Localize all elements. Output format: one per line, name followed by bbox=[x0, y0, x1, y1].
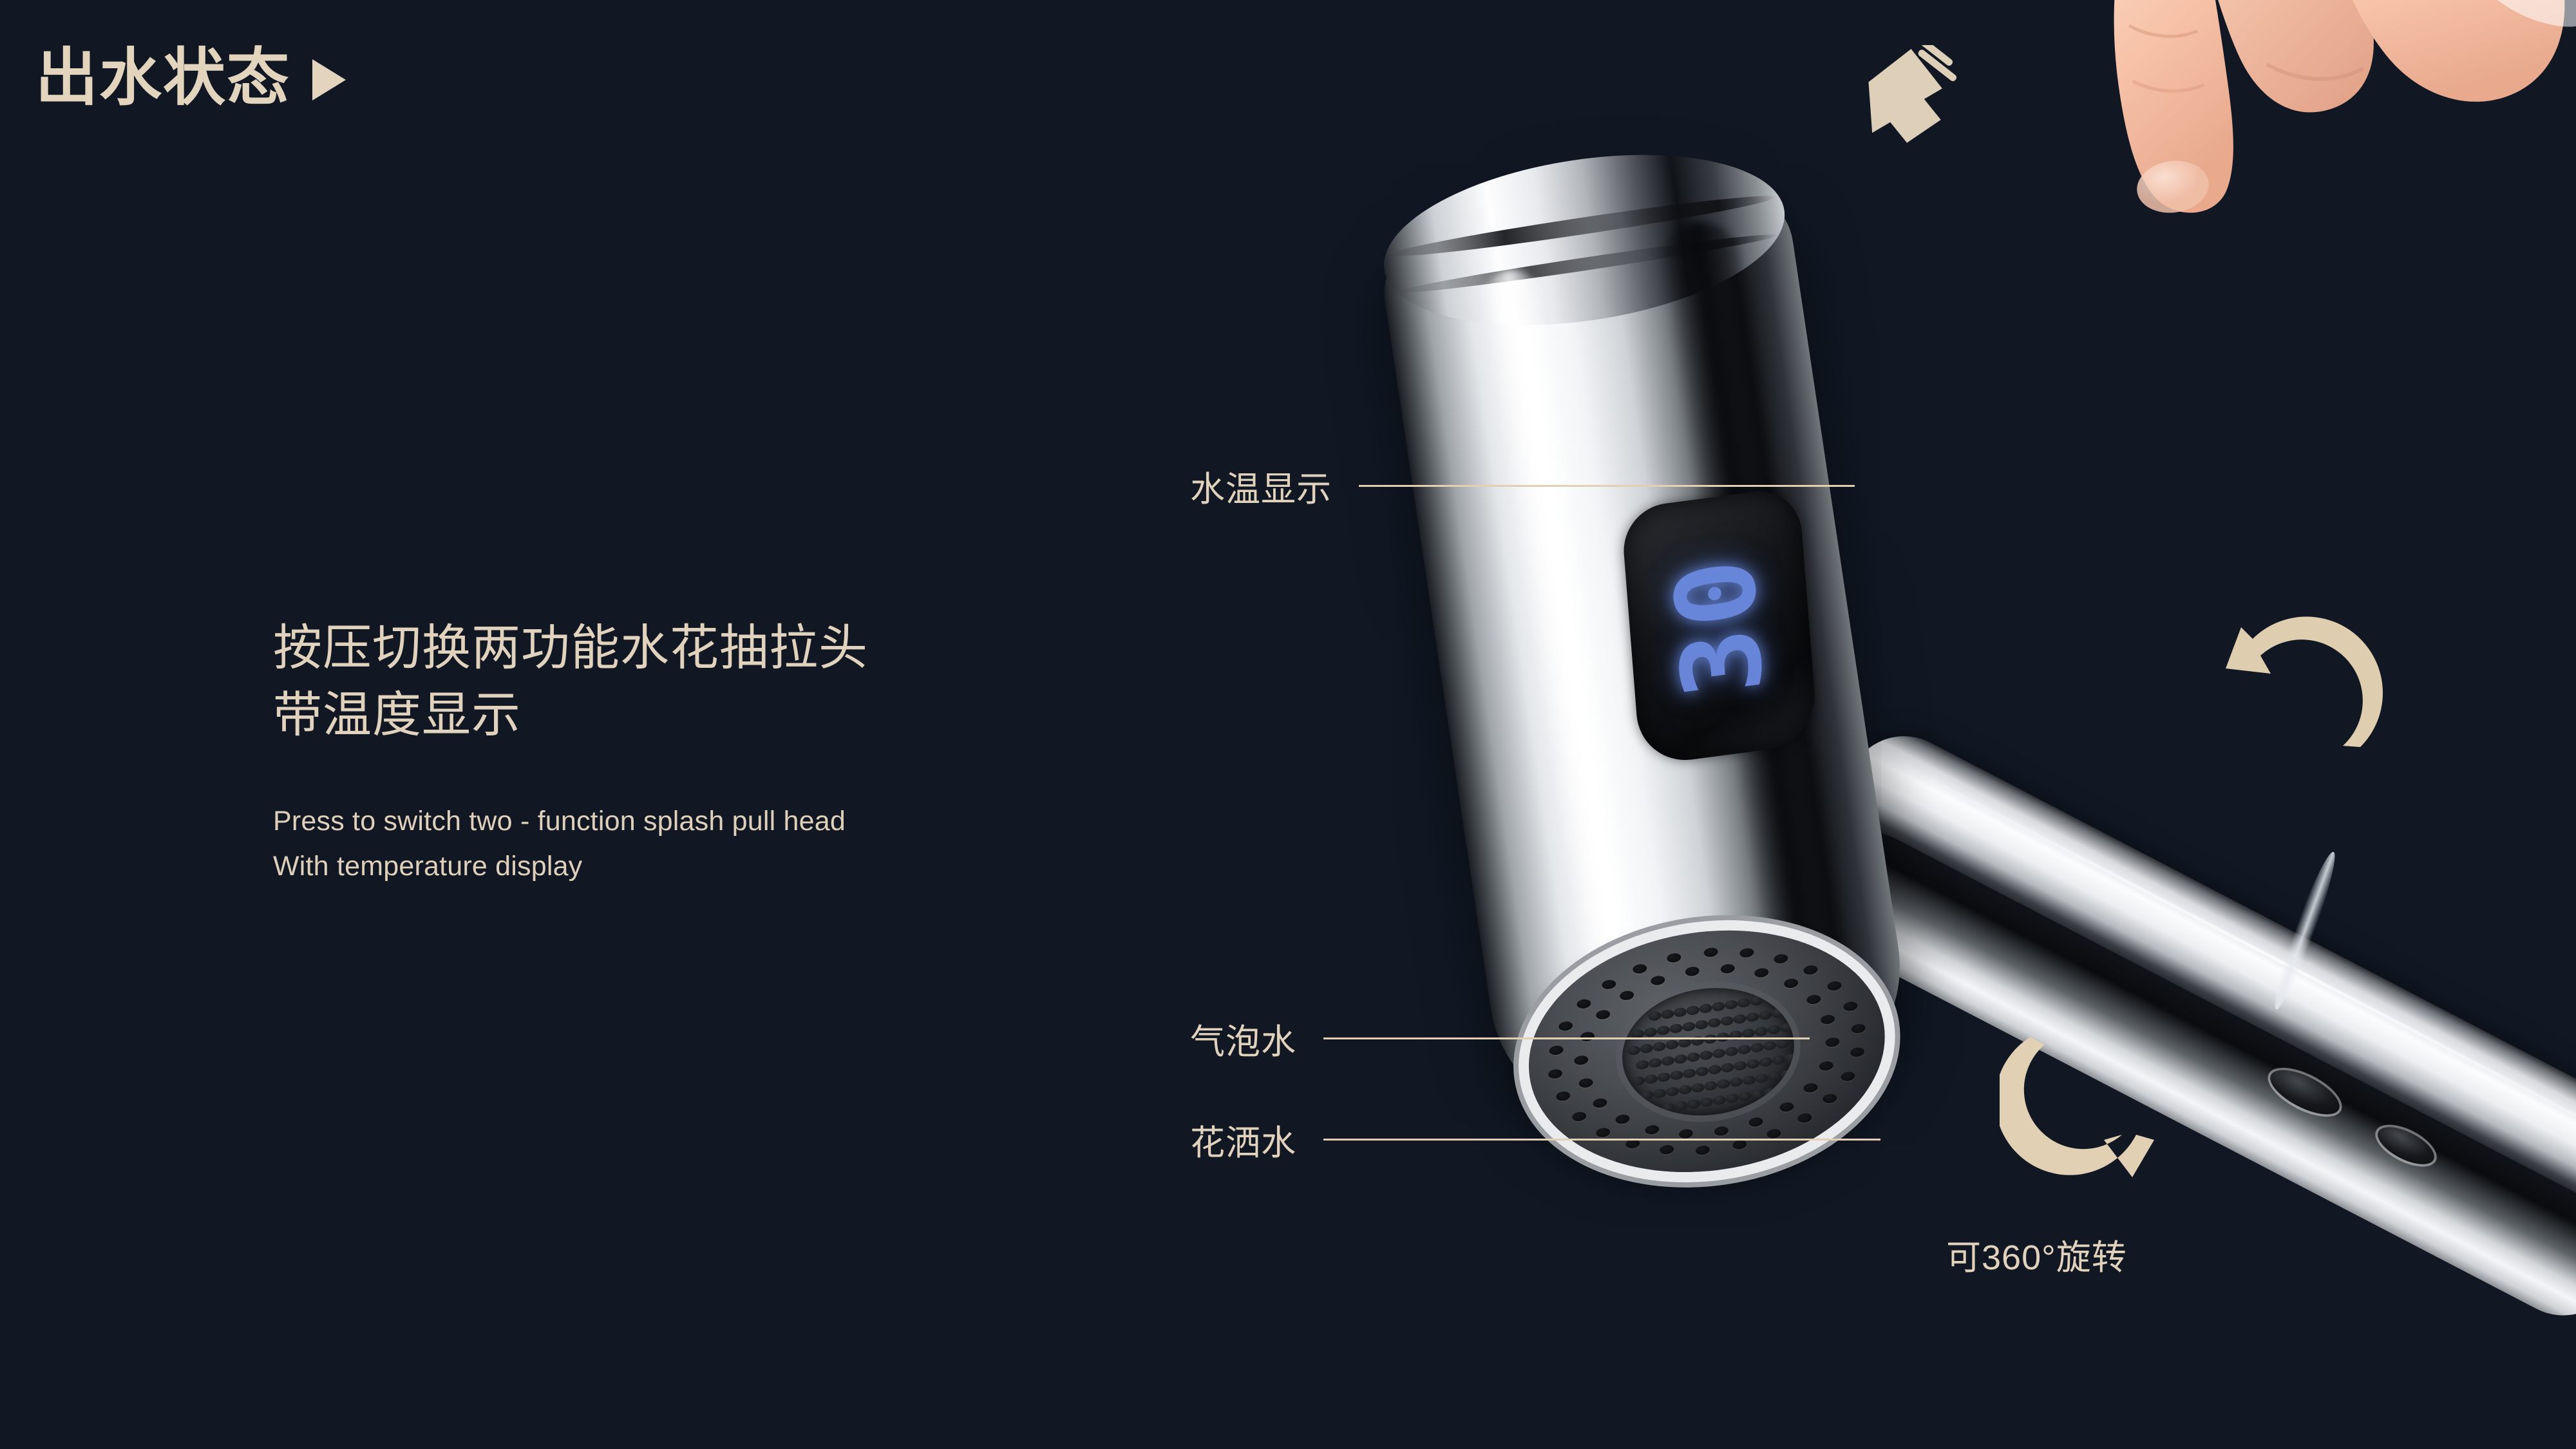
leader-line bbox=[1323, 1139, 1880, 1141]
headline-cn-line-2: 带温度显示 bbox=[273, 682, 868, 749]
callout-shower-water: 花洒水 bbox=[1190, 1114, 1880, 1165]
shower-hole bbox=[1819, 1060, 1834, 1071]
mesh-cell bbox=[1711, 1001, 1725, 1012]
mesh-cell bbox=[1687, 1099, 1701, 1110]
shower-hole bbox=[1779, 1102, 1794, 1113]
shower-hole bbox=[1548, 1068, 1563, 1079]
shower-hole bbox=[1650, 975, 1665, 986]
shower-hole bbox=[1806, 994, 1822, 1005]
mesh-cell bbox=[1721, 1063, 1735, 1074]
callout-label: 花洒水 bbox=[1190, 1114, 1296, 1165]
shower-hole bbox=[1720, 963, 1736, 974]
shower-hole bbox=[1601, 979, 1616, 990]
shower-hole bbox=[1667, 952, 1682, 963]
callout-label: 气泡水 bbox=[1190, 1013, 1296, 1064]
mesh-cell bbox=[1640, 1090, 1654, 1101]
mesh-cell bbox=[1678, 1084, 1692, 1095]
subcopy-en-line-1: Press to switch two - function splash pu… bbox=[273, 799, 868, 844]
mesh-cell bbox=[1682, 1068, 1696, 1079]
mesh-cell bbox=[1755, 1073, 1769, 1084]
product-feature-slide: 30 bbox=[0, 0, 2576, 1449]
temperature-display-panel: 30 bbox=[1620, 486, 1818, 766]
shower-hole bbox=[1821, 1014, 1836, 1025]
shower-hole bbox=[1803, 1083, 1819, 1094]
hand-pressing-finger bbox=[1964, 0, 2576, 316]
mesh-cell bbox=[1669, 1070, 1683, 1081]
page-title: 出水状态 bbox=[35, 46, 290, 109]
mesh-cell bbox=[1724, 999, 1738, 1010]
subcopy-en: Press to switch two - function splash pu… bbox=[273, 799, 868, 889]
rotate-counterclockwise-arrow-icon bbox=[2196, 592, 2389, 786]
mesh-cell bbox=[1653, 1088, 1667, 1099]
mesh-cell bbox=[1657, 1072, 1671, 1083]
mesh-cell bbox=[1674, 1101, 1689, 1112]
shower-hole bbox=[1576, 999, 1591, 1010]
headline-cn-line-1: 按压切换两功能水花抽拉头 bbox=[273, 615, 868, 682]
callout-aerated-water: 气泡水 bbox=[1190, 1013, 1810, 1064]
shower-hole bbox=[1684, 966, 1700, 977]
mesh-cell bbox=[1725, 1093, 1739, 1104]
mesh-cell bbox=[1703, 1081, 1718, 1092]
mesh-cell bbox=[1708, 1065, 1722, 1075]
temperature-value: 30 bbox=[1651, 548, 1788, 704]
mesh-cell bbox=[1729, 1077, 1743, 1088]
shower-hole bbox=[1850, 1047, 1865, 1058]
mesh-cell bbox=[1737, 998, 1751, 1009]
press-down-arrow-icon bbox=[1855, 45, 1971, 174]
shower-hole bbox=[1578, 1077, 1593, 1088]
shower-hole bbox=[1840, 1071, 1855, 1082]
shower-hole bbox=[1851, 1023, 1866, 1034]
rotate-clockwise-arrow-icon bbox=[2000, 1011, 2193, 1198]
shower-hole bbox=[1703, 947, 1718, 958]
mesh-cell bbox=[1750, 996, 1764, 1007]
subcopy-en-line-2: With temperature display bbox=[273, 844, 868, 889]
mesh-cell bbox=[1662, 1103, 1676, 1113]
shower-hole bbox=[1619, 990, 1634, 1001]
shower-hole bbox=[1632, 963, 1647, 974]
shower-hole bbox=[1555, 1091, 1571, 1102]
shower-hole bbox=[1774, 953, 1789, 964]
shower-hole bbox=[1592, 1097, 1607, 1108]
shower-hole bbox=[1824, 1037, 1840, 1048]
mesh-cell bbox=[1691, 1083, 1705, 1094]
shower-hole bbox=[1803, 965, 1819, 976]
mesh-cell bbox=[1699, 1003, 1713, 1014]
callout-temperature-display: 水温显示 bbox=[1190, 460, 1855, 511]
mesh-cell bbox=[1665, 1086, 1680, 1097]
mesh-cell bbox=[1716, 1079, 1730, 1090]
shower-hole bbox=[1843, 1001, 1859, 1012]
mesh-cell bbox=[1631, 1075, 1645, 1086]
shower-hole bbox=[1754, 967, 1770, 978]
feature-copy-block: 按压切换两功能水花抽拉头 带温度显示 Press to switch two -… bbox=[273, 615, 868, 889]
shower-hole bbox=[1783, 978, 1799, 989]
leader-line bbox=[1323, 1037, 1810, 1039]
mesh-cell bbox=[1700, 1097, 1714, 1108]
leader-line bbox=[1359, 485, 1855, 487]
slide-header: 出水状态 bbox=[35, 46, 346, 109]
mesh-cell bbox=[1742, 1075, 1756, 1086]
play-triangle-icon bbox=[312, 59, 346, 100]
shower-hole bbox=[1826, 981, 1842, 992]
shower-hole bbox=[1739, 947, 1755, 958]
callout-label: 水温显示 bbox=[1190, 460, 1332, 511]
mesh-cell bbox=[1767, 1071, 1781, 1082]
rotation-label: 可360°旋转 bbox=[1946, 1229, 2127, 1280]
mesh-cell bbox=[1712, 1095, 1727, 1106]
mesh-cell bbox=[1695, 1066, 1709, 1077]
shower-hole bbox=[1822, 1093, 1837, 1104]
mesh-cell bbox=[1738, 1091, 1752, 1102]
mesh-cell bbox=[1644, 1074, 1658, 1084]
